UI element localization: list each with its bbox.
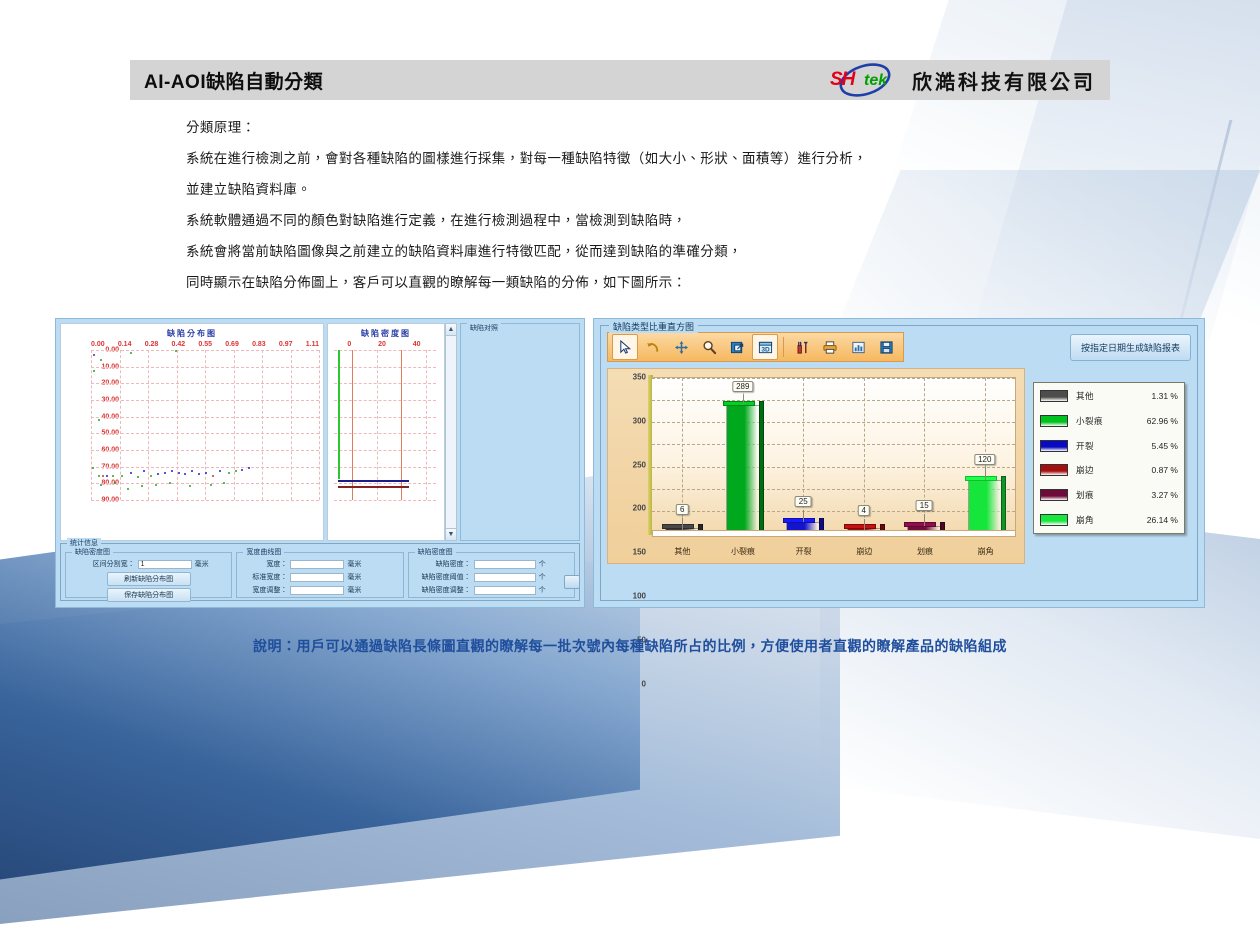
- chart-gridline: [652, 489, 1015, 490]
- save-icon[interactable]: [873, 334, 899, 360]
- chart3d-icon[interactable]: 3D: [752, 334, 778, 360]
- scatter-point: [228, 472, 230, 474]
- distribution-x-tick: 0.42: [172, 341, 186, 348]
- defect-density-input[interactable]: [474, 560, 536, 569]
- body-line-1: 系統在進行檢測之前，會對各種缺陷的圖樣進行採集，對每一種缺陷特徵（如大小、形狀、…: [186, 143, 1116, 174]
- distribution-x-tick: 0.83: [252, 341, 266, 348]
- brand: SH tek 欣澔科技有限公司: [826, 63, 1096, 97]
- body-line-4: 系統會將當前缺陷圖像與之前建立的缺陷資料庫進行特徵匹配，從而達到缺陷的準確分類，: [186, 236, 1116, 267]
- defect-density-adjust-input[interactable]: [474, 586, 536, 595]
- export-icon[interactable]: [724, 334, 750, 360]
- distribution-y-axis: 0.0010.0020.0030.0040.0050.0060.0070.008…: [91, 350, 121, 500]
- distribution-x-tick: 0.69: [225, 341, 239, 348]
- page-title: AI-AOI缺陷自動分類: [144, 67, 323, 94]
- legend-row: 其他1.31 %: [1040, 390, 1178, 402]
- width-adjust-label: 宽度调整：: [241, 585, 287, 595]
- chart-legend: 其他1.31 %小裂痕62.96 %开裂5.45 %崩边0.87 %划痕3.27…: [1033, 382, 1185, 534]
- scatter-point: [164, 472, 166, 474]
- scatter-point: [248, 467, 250, 469]
- legend-label: 划痕: [1076, 489, 1152, 501]
- chart-y-tick: 250: [608, 460, 646, 469]
- distribution-x-tick: 0.00: [91, 341, 105, 348]
- distribution-x-tick: 1.11: [306, 341, 319, 348]
- gridline: [334, 500, 436, 501]
- legend-label: 开裂: [1076, 440, 1152, 452]
- gridline: [334, 383, 436, 384]
- gridline: [319, 350, 320, 500]
- chart-bar-top: [965, 476, 997, 481]
- width-input[interactable]: [290, 560, 344, 569]
- chart-callout-line: [924, 514, 925, 526]
- vertical-scrollbar[interactable]: ▲ ▼: [445, 323, 457, 541]
- chart-value-label: 120: [974, 454, 995, 465]
- body-line-0: 分類原理：: [186, 112, 1116, 143]
- scatter-point: [130, 352, 132, 354]
- scatter-point: [155, 484, 157, 486]
- defect-density-adjust-label: 缺陷密度调整：: [413, 585, 471, 595]
- chart-x-label: 划痕: [917, 546, 933, 557]
- chart-x-label: 开裂: [796, 546, 812, 557]
- scatter-point: [141, 485, 143, 487]
- legend-swatch: [1040, 390, 1068, 402]
- standard-width-input[interactable]: [290, 573, 344, 582]
- gridline: [262, 350, 263, 500]
- width-unit: 毫米: [347, 559, 361, 569]
- chart-callout-line: [743, 395, 744, 405]
- width-curve-group: 宽度曲线图 宽度：毫米 标准宽度：毫米 宽度调整：毫米: [236, 552, 403, 598]
- expand-icon[interactable]: [564, 575, 580, 589]
- scatter-point: [171, 470, 173, 472]
- interval-input[interactable]: 1: [138, 560, 192, 569]
- scatter-point: [143, 470, 145, 472]
- distribution-x-tick: 0.97: [279, 341, 293, 348]
- body-line-2: 並建立缺陷資料庫。: [186, 174, 1116, 205]
- chart-y-tick: 300: [608, 416, 646, 425]
- defect-distribution-plot[interactable]: 缺陷分布图 0.000.140.280.420.550.690.830.971.…: [60, 323, 324, 541]
- density-x-tick: 40: [413, 341, 421, 348]
- gridline: [234, 350, 235, 500]
- gridline: [148, 350, 149, 500]
- chart-gridline: [652, 511, 1015, 512]
- scatter-point: [121, 475, 123, 477]
- chart-gridline: [652, 378, 1015, 379]
- gridline: [352, 350, 353, 500]
- scatter-point: [210, 484, 212, 486]
- defect-compare-panel: 缺陷对照: [460, 323, 580, 541]
- defect-density-plot[interactable]: 缺陷密度图 02040: [327, 323, 445, 541]
- scatter-point: [184, 473, 186, 475]
- histogram-groupbox: 缺陷类型比重直方图: [600, 325, 1198, 601]
- scatter-point: [100, 484, 102, 486]
- gridline: [334, 433, 436, 434]
- defect-density-row-label: 缺陷密度：: [413, 559, 471, 569]
- chart-bar-top: [844, 524, 876, 529]
- density-curve-tail: [338, 480, 409, 482]
- chart-bar[interactable]: [968, 480, 1002, 533]
- gridline: [177, 350, 178, 500]
- tools-icon[interactable]: [789, 334, 815, 360]
- zoom-icon[interactable]: [696, 334, 722, 360]
- chart-y-tick: 100: [608, 591, 646, 600]
- chart-gridline: [652, 400, 1015, 401]
- body-line-3: 系統軟體通過不同的顏色對缺陷進行定義，在進行檢測過程中，當檢測到缺陷時，: [186, 205, 1116, 236]
- gridline: [401, 350, 402, 500]
- legend-swatch: [1040, 440, 1068, 452]
- gridline: [205, 350, 206, 500]
- legend-swatch: [1040, 464, 1068, 476]
- application-screenshot: 缺陷分布图 0.000.140.280.420.550.690.830.971.…: [55, 318, 1205, 608]
- chart-x-label: 小裂痕: [731, 546, 755, 557]
- chart-y-tick: 0: [608, 679, 646, 688]
- distribution-grid: 0.0010.0020.0030.0040.0050.0060.0070.008…: [91, 350, 319, 500]
- density-curve: [338, 350, 340, 479]
- gridline: [120, 350, 121, 500]
- logo-tek-text: tek: [864, 72, 887, 90]
- distribution-x-tick: 0.28: [145, 341, 159, 348]
- chart-area: 628925415120 050100150200250300350其他小裂痕开…: [607, 368, 1191, 564]
- scatter-point: [205, 472, 207, 474]
- scatter-point: [106, 475, 108, 477]
- scatter-point: [191, 470, 193, 472]
- defect-density-group: 缺陷密度图 缺陷密度：个 缺陷密度阈值：个 缺陷密度调整：个: [408, 552, 575, 598]
- legend-swatch: [1040, 489, 1068, 501]
- scatter-point: [130, 472, 132, 474]
- legend-label: 崩角: [1076, 514, 1147, 526]
- density-curve-tail-2: [338, 486, 409, 488]
- logo-sh-text: SH: [830, 69, 854, 91]
- body-text: 分類原理： 系統在進行檢測之前，會對各種缺陷的圖樣進行採集，對每一種缺陷特徵（如…: [186, 112, 1116, 298]
- scatter-point: [169, 482, 171, 484]
- chart-bar-top: [723, 401, 755, 406]
- legend-percent: 3.27 %: [1152, 490, 1178, 500]
- chart-value-label: 25: [795, 496, 812, 507]
- legend-label: 小裂痕: [1076, 415, 1147, 427]
- defect-distribution-window: 缺陷分布图 0.000.140.280.420.550.690.830.971.…: [55, 318, 585, 608]
- standard-width-label: 标准宽度：: [241, 572, 287, 582]
- plots-row: 缺陷分布图 0.000.140.280.420.550.690.830.971.…: [56, 319, 584, 541]
- plot-background: 628925415120: [652, 377, 1016, 533]
- save-distribution-button[interactable]: 保存缺陷分布图: [107, 588, 191, 602]
- chart-baseplate: [652, 530, 1016, 537]
- density-x-tick: 0: [347, 341, 351, 348]
- statistics-group: 统计信息 缺陷密度图 区间分割宽： 1 毫米 刷新缺陷分布图 保存缺陷分布图 宽…: [60, 543, 580, 601]
- gridline: [334, 483, 436, 484]
- scatter-point: [137, 476, 139, 478]
- gridline: [291, 350, 292, 500]
- generate-report-button[interactable]: 按指定日期生成缺陷报表: [1070, 334, 1191, 361]
- company-logo-icon: SH tek: [826, 63, 904, 97]
- scatter-point: [235, 470, 237, 472]
- legend-row: 崩角26.14 %: [1040, 514, 1178, 526]
- chart-toolbar: 3D: [607, 332, 904, 362]
- gridline: [426, 350, 427, 500]
- scatter-point: [241, 469, 243, 471]
- chart-callout-line: [803, 510, 804, 522]
- chart-gridline: [652, 467, 1015, 468]
- gridline: [334, 400, 436, 401]
- defect-density-threshold-unit: 个: [539, 572, 546, 582]
- legend-swatch: [1040, 514, 1068, 526]
- scatter-point: [212, 475, 214, 477]
- interval-label: 区间分割宽：: [89, 559, 135, 569]
- legend-row: 划痕3.27 %: [1040, 489, 1178, 501]
- density-x-tick: 20: [378, 341, 386, 348]
- width-adjust-unit: 毫米: [347, 585, 361, 595]
- legend-row: 小裂痕62.96 %: [1040, 415, 1178, 427]
- chart-bar-top: [904, 522, 936, 527]
- toolbar-row: 3D 按指定日期生成缺陷报表: [607, 332, 1191, 362]
- gridline: [334, 417, 436, 418]
- density-grid: [334, 350, 436, 500]
- scatter-point: [178, 472, 180, 474]
- chart-x-label: 其他: [674, 546, 690, 557]
- legend-row: 开裂5.45 %: [1040, 440, 1178, 452]
- distribution-plot-title: 缺陷分布图: [61, 324, 323, 339]
- legend-label: 其他: [1076, 390, 1152, 402]
- standard-width-unit: 毫米: [347, 572, 361, 582]
- print-icon[interactable]: [817, 334, 843, 360]
- chart-y-tick: 350: [608, 373, 646, 382]
- gridline: [91, 350, 92, 500]
- chart-callout-line: [985, 467, 986, 479]
- gridline: [334, 450, 436, 451]
- chart-bar-top: [783, 518, 815, 523]
- width-label: 宽度：: [241, 559, 287, 569]
- scatter-point: [114, 482, 116, 484]
- body-line-5: 同時顯示在缺陷分佈圖上，客戶可以直觀的瞭解每一類缺陷的分佈，如下圖所示：: [186, 267, 1116, 298]
- toolbar-separator: [783, 337, 784, 357]
- legend-percent: 1.31 %: [1152, 391, 1178, 401]
- scatter-point: [150, 475, 152, 477]
- distribution-x-tick: 0.14: [118, 341, 132, 348]
- defect-bar-chart[interactable]: 628925415120 050100150200250300350其他小裂痕开…: [607, 368, 1025, 564]
- gridline: [334, 367, 436, 368]
- chart-value-label: 15: [916, 500, 933, 511]
- undo-icon[interactable]: [640, 334, 666, 360]
- chart-x-label: 崩角: [978, 546, 994, 557]
- density-settings-label: 缺陷密度图: [72, 547, 113, 557]
- gridline: [91, 500, 319, 501]
- legend-percent: 0.87 %: [1152, 465, 1178, 475]
- legend-label: 崩边: [1076, 464, 1152, 476]
- legend-percent: 62.96 %: [1147, 416, 1178, 426]
- scatter-point: [189, 485, 191, 487]
- svg-text:3D: 3D: [761, 346, 770, 353]
- scatter-point: [98, 419, 100, 421]
- density-plot-title: 缺陷密度图: [328, 324, 444, 339]
- defect-density-label: 缺陷密度图: [415, 547, 456, 557]
- chart-callout-line: [682, 518, 683, 530]
- scatter-point: [219, 470, 221, 472]
- chart-value-label: 6: [676, 504, 688, 515]
- scatter-point: [198, 473, 200, 475]
- defect-histogram-window: 缺陷类型比重直方图: [593, 318, 1205, 608]
- chart-gridline: [652, 444, 1015, 445]
- chart-y-tick: 150: [608, 548, 646, 557]
- chart-bar-side: [1001, 476, 1006, 532]
- chart-bar[interactable]: [726, 405, 760, 533]
- slide-header: AI-AOI缺陷自動分類 SH tek 欣澔科技有限公司: [130, 60, 1110, 100]
- density-x-axis: 02040: [328, 339, 444, 348]
- scatter-point: [127, 488, 129, 490]
- interval-unit: 毫米: [195, 559, 209, 569]
- chart-y-tick: 200: [608, 504, 646, 513]
- defect-density-adjust-unit: 个: [539, 585, 546, 595]
- legend-percent: 26.14 %: [1147, 515, 1178, 525]
- scroll-down-icon[interactable]: ▼: [446, 528, 456, 540]
- chart-bar-side: [759, 401, 764, 532]
- histogram-group-label: 缺陷类型比重直方图: [609, 320, 698, 333]
- width-curve-label: 宽度曲线图: [243, 547, 284, 557]
- barchart-icon[interactable]: [845, 334, 871, 360]
- cursor-icon[interactable]: [612, 334, 638, 360]
- scroll-up-icon[interactable]: ▲: [446, 324, 456, 336]
- scatter-point: [98, 475, 100, 477]
- legend-row: 崩边0.87 %: [1040, 464, 1178, 476]
- chart-value-label: 289: [732, 381, 753, 392]
- defect-density-threshold-input[interactable]: [474, 573, 536, 582]
- legend-swatch: [1040, 415, 1068, 427]
- chart-x-label: 崩边: [856, 546, 872, 557]
- scatter-point: [157, 473, 159, 475]
- gridline: [377, 350, 378, 500]
- legend-percent: 5.45 %: [1152, 441, 1178, 451]
- pan-icon[interactable]: [668, 334, 694, 360]
- gridline: [334, 350, 436, 351]
- slide-caption: 說明：用戶可以通過缺陷長條圖直觀的瞭解每一批次號內每種缺陷所占的比例，方便使用者…: [0, 636, 1260, 656]
- scatter-point: [112, 475, 114, 477]
- distribution-x-tick: 0.55: [198, 341, 212, 348]
- width-adjust-input[interactable]: [290, 586, 344, 595]
- chart-value-label: 4: [858, 505, 870, 516]
- scatter-point: [93, 370, 95, 372]
- refresh-distribution-button[interactable]: 刷新缺陷分布图: [107, 572, 191, 586]
- defect-density-threshold-label: 缺陷密度阈值：: [413, 572, 471, 582]
- gridline: [334, 467, 436, 468]
- density-settings-group: 缺陷密度图 区间分割宽： 1 毫米 刷新缺陷分布图 保存缺陷分布图: [65, 552, 232, 598]
- distribution-x-axis: 0.000.140.280.420.550.690.830.971.11: [61, 339, 323, 348]
- chart-gridline: [652, 422, 1015, 423]
- defect-density-unit: 个: [539, 559, 546, 569]
- chart-bar-top: [662, 524, 694, 529]
- company-name: 欣澔科技有限公司: [912, 66, 1096, 95]
- compare-panel-label: 缺陷对照: [467, 323, 501, 333]
